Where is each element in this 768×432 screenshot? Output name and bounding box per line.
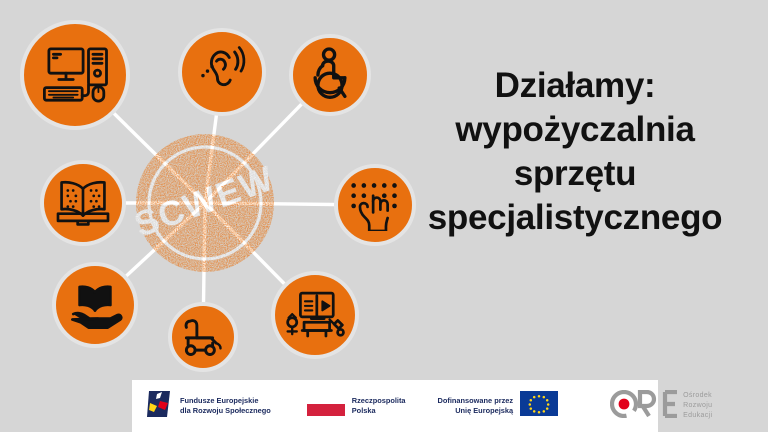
node-mobility[interactable] xyxy=(168,302,238,372)
title-line-3: sprzętu xyxy=(386,152,764,196)
slide-canvas: SCWEW Działamy: wypożyczalnia sprzętu sp… xyxy=(0,0,768,432)
eu-flag-icon xyxy=(520,391,558,421)
logo-rzeczpospolita-polska: Rzeczpospolita Polska xyxy=(307,392,406,421)
hub-scwew-stamp[interactable]: SCWEW xyxy=(133,131,277,275)
multimedia-screen-icon xyxy=(284,287,346,343)
eu-funds-flag-icon xyxy=(146,389,173,424)
node-hearing[interactable] xyxy=(178,28,266,116)
logo-ore: Ośrodek Rozwoju Edukacji xyxy=(610,390,712,423)
polish-flag-icon xyxy=(307,392,345,421)
funding-logo-bar: Fundusze Europejskie dla Rozwoju Społecz… xyxy=(132,380,658,432)
node-braille-book[interactable] xyxy=(40,160,126,246)
page-title: Działamy: wypożyczalnia sprzętu specjali… xyxy=(386,64,764,240)
rzeczpospolita-polska-label: Rzeczpospolita Polska xyxy=(352,396,406,416)
desktop-computer-icon xyxy=(39,45,111,105)
title-line-1: Działamy: xyxy=(386,64,764,108)
node-multimedia[interactable] xyxy=(271,271,359,359)
title-line-2: wypożyczalnia xyxy=(386,108,764,152)
node-wheelchair[interactable] xyxy=(289,34,371,116)
ear-hearing-icon xyxy=(193,43,251,101)
logo-dofinansowane-przez-ue: Dofinansowane przez Unię Europejską xyxy=(438,391,559,421)
braille-book-icon xyxy=(54,178,112,228)
node-lending[interactable] xyxy=(52,262,138,348)
wheelchair-access-icon xyxy=(304,47,356,103)
electric-wheelchair-icon xyxy=(179,316,227,358)
ore-subtitle: Ośrodek Rozwoju Edukacji xyxy=(683,391,712,421)
hand-holding-book-icon xyxy=(66,279,124,331)
fundusze-europejskie-label: Fundusze Europejskie dla Rozwoju Społecz… xyxy=(180,396,271,416)
node-computer[interactable] xyxy=(20,20,130,130)
dofinansowane-label: Dofinansowane przez Unię Europejską xyxy=(438,396,514,416)
ore-logo-icon xyxy=(610,390,680,423)
logo-fundusze-europejskie: Fundusze Europejskie dla Rozwoju Społecz… xyxy=(146,389,271,424)
title-line-4: specjalistycznego xyxy=(386,196,764,240)
